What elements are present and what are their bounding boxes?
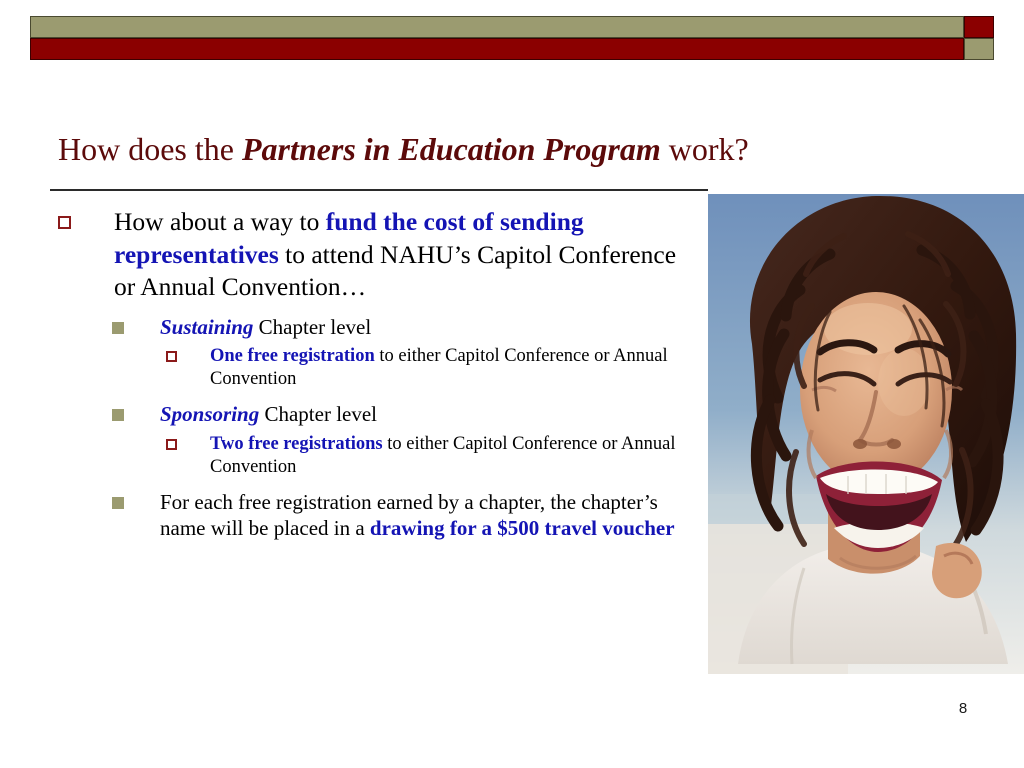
small-hollow-square-bullet-icon — [166, 351, 177, 362]
band-red-corner-square — [964, 16, 994, 38]
sponsoring-rest-text: Chapter level — [259, 402, 377, 426]
band-khaki-bar — [30, 16, 964, 38]
bullet-level3-one-free-registration: One free registration to either Capitol … — [50, 345, 700, 391]
bullet-level2-sustaining: Sustaining Chapter level — [50, 314, 700, 340]
bullet-level3-two-free-registrations: Two free registrations to either Capitol… — [50, 433, 700, 479]
slide-number: 8 — [948, 700, 978, 717]
bullet-level2-sponsoring: Sponsoring Chapter level — [50, 401, 700, 427]
filled-square-bullet-icon — [112, 409, 124, 421]
bullet-text-part1: How about a way to — [114, 207, 326, 236]
band-khaki-corner-square — [964, 38, 994, 60]
presentation-slide: How does the Partners in Education Progr… — [0, 0, 1024, 768]
sustaining-emphasis-label: Sustaining — [160, 315, 253, 339]
two-free-registrations-highlight: Two free registrations — [210, 434, 383, 454]
title-emphasis-text: Partners in Education Program — [242, 131, 661, 167]
laughing-woman-photo — [708, 194, 1024, 674]
hollow-square-bullet-icon — [58, 216, 71, 229]
filled-square-bullet-icon — [112, 497, 124, 509]
bullet-level2-travel-voucher-drawing: For each free registration earned by a c… — [50, 489, 700, 542]
bullet-level1-funding: How about a way to fund the cost of send… — [50, 206, 700, 304]
slide-title: How does the Partners in Education Progr… — [58, 130, 718, 168]
small-hollow-square-bullet-icon — [166, 439, 177, 450]
sponsoring-emphasis-label: Sponsoring — [160, 402, 259, 426]
header-decoration-band — [30, 16, 994, 60]
slide-body-content: How about a way to fund the cost of send… — [50, 206, 700, 541]
title-lead-text: How does the — [58, 131, 242, 167]
drawing-highlight-voucher: drawing for a $500 travel voucher — [370, 516, 675, 540]
one-free-registration-highlight: One free registration — [210, 346, 375, 366]
band-red-bar — [30, 38, 964, 60]
sustaining-rest-text: Chapter level — [253, 315, 371, 339]
title-underline-rule — [50, 189, 708, 191]
title-trail-text: work? — [661, 131, 749, 167]
filled-square-bullet-icon — [112, 322, 124, 334]
